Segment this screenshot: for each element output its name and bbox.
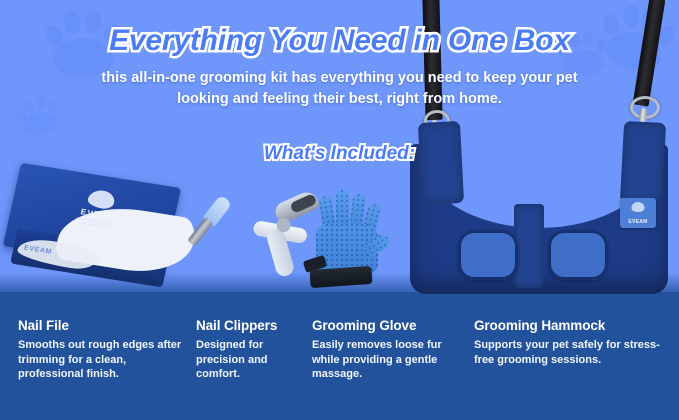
hammock-center-strap bbox=[514, 204, 544, 288]
feature-title: Grooming Hammock bbox=[474, 318, 664, 333]
feature-description: Smooths out rough edges after trimming f… bbox=[18, 338, 190, 382]
hammock-leg-hole bbox=[548, 230, 608, 280]
feature-title: Grooming Glove bbox=[312, 318, 462, 333]
paw-print-icon bbox=[12, 91, 64, 140]
feature-description: Supports your pet safely for stress-free… bbox=[474, 338, 664, 367]
hammock-brand-text: EVEAM bbox=[628, 219, 647, 225]
page-title: Everything You Need in One Box bbox=[0, 24, 679, 58]
pet-logo-icon bbox=[86, 189, 116, 211]
feature-item: Grooming Glove Easily removes loose fur … bbox=[312, 318, 462, 382]
product-box-image: EVEAM PROFESSIONAL PET GROOMING KIT EVEA… bbox=[8, 172, 180, 294]
feature-description: Designed for precision and comfort. bbox=[196, 338, 308, 382]
feature-description: Easily removes loose fur while providing… bbox=[312, 338, 462, 382]
feature-title: Nail File bbox=[18, 318, 190, 333]
brand-mark-icon bbox=[632, 202, 645, 212]
hammock-brand-label: EVEAM bbox=[620, 198, 656, 228]
feature-item: Grooming Hammock Supports your pet safel… bbox=[474, 318, 664, 367]
feature-item: Nail Clippers Designed for precision and… bbox=[196, 318, 308, 382]
subtitle-text: this all-in-one grooming kit has everyth… bbox=[80, 68, 600, 109]
feature-item: Nail File Smooths out rough edges after … bbox=[18, 318, 190, 382]
hammock-leg-hole bbox=[458, 230, 518, 280]
product-infographic: EVEAM EVEAM PROFESSIONAL PET GROOMING KI… bbox=[0, 0, 679, 420]
section-heading: What's Included: bbox=[0, 143, 679, 165]
feature-title: Nail Clippers bbox=[196, 318, 308, 333]
grooming-glove-image bbox=[302, 188, 406, 292]
